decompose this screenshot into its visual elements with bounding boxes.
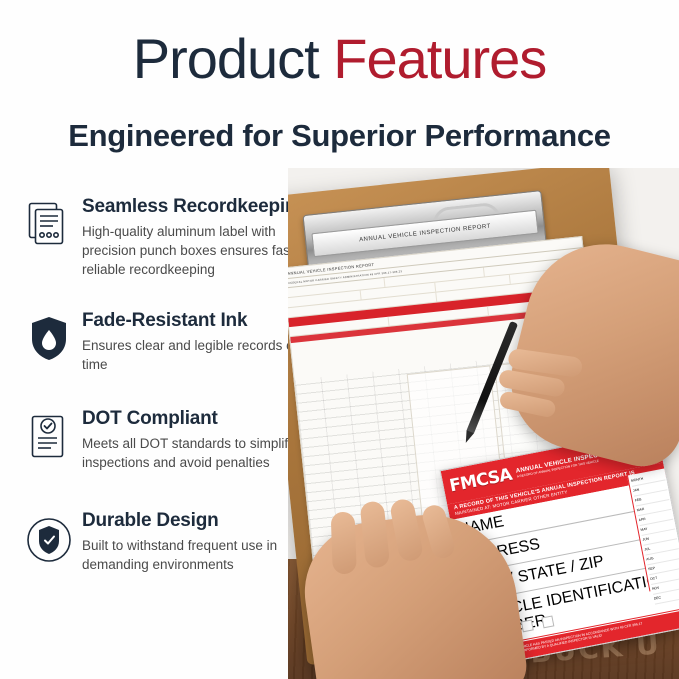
- shield-check-icon: [18, 510, 80, 566]
- fmcsa-logo: FMCSA: [448, 465, 513, 497]
- shield-droplet-icon: [18, 310, 80, 364]
- document-check-icon: [18, 408, 80, 464]
- page-title-part-2: Features: [333, 27, 546, 90]
- punch-box[interactable]: [541, 615, 554, 628]
- page-title-part-1: Product: [133, 27, 334, 90]
- product-features-page: Product Features Engineered for Superior…: [0, 0, 679, 679]
- documents-stack-icon: [18, 196, 80, 252]
- page-subtitle: Engineered for Superior Performance: [0, 118, 679, 154]
- page-title: Product Features: [0, 30, 679, 89]
- punch-box[interactable]: [521, 619, 534, 632]
- product-photo: BUCK U ANNUAL VEHICLE INSPECTION REPORT …: [288, 168, 679, 679]
